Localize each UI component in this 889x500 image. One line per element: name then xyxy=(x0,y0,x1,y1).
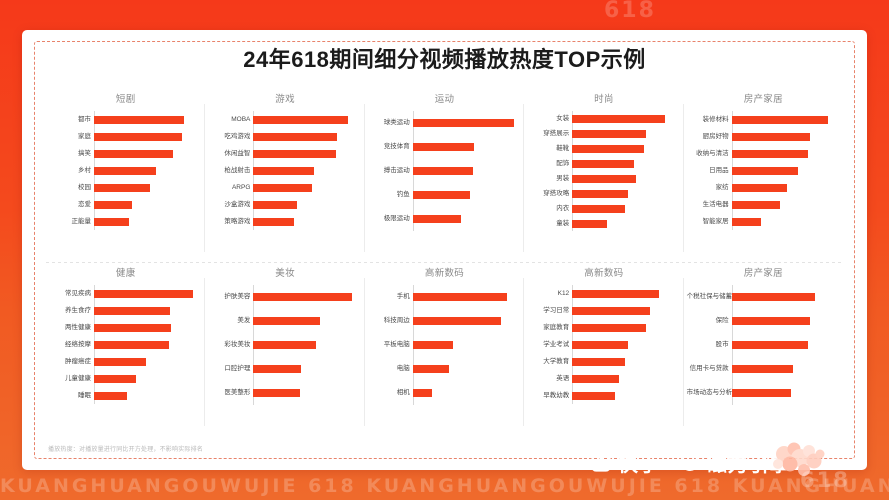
chart-title: 运动 xyxy=(369,94,520,106)
chart-bar xyxy=(732,167,799,175)
chart-title: 房产家居 xyxy=(688,94,839,106)
chart-bar-row: 学习日常 xyxy=(572,302,679,319)
chart-bar-row: 睡眠 xyxy=(94,387,201,404)
chart-bar xyxy=(572,160,634,168)
chart-bar xyxy=(732,150,808,158)
chart-bar-label: 肿瘤癌症 xyxy=(49,358,91,366)
chart-bar-label: 竞技体育 xyxy=(368,143,410,151)
chart-bar-track xyxy=(94,319,201,337)
chart-bar-track xyxy=(253,145,360,163)
chart-bar-row: 股市 xyxy=(732,333,839,357)
chart-bar-row: 英语 xyxy=(572,370,679,387)
chart-bar xyxy=(413,119,514,127)
chart-bar-row: 吃鸡游戏 xyxy=(253,128,360,145)
chart-bar xyxy=(94,201,132,209)
chart-bar-row: ARPG xyxy=(253,179,360,196)
chart-plot-area: MOBA吃鸡游戏休闲益智枪战射击ARPG沙盒游戏策略游戏 xyxy=(209,111,360,230)
chart-bar-row: 电脑 xyxy=(413,357,520,381)
chart-panel: 高新数码手机科技周边平板电脑电脑相机 xyxy=(365,262,524,436)
chart-bar-row: 常见疾病 xyxy=(94,285,201,302)
chart-bar-label: 沙盒游戏 xyxy=(208,201,250,209)
chart-bar-track xyxy=(732,179,839,197)
chart-bar-label: 睡眠 xyxy=(49,392,91,400)
chart-bar-track xyxy=(253,213,360,231)
chart-bar-row: 平板电脑 xyxy=(413,333,520,357)
chart-bar-label: 养生食疗 xyxy=(49,307,91,315)
chart-bar-track xyxy=(413,186,520,204)
chart-bar-label: 智能家居 xyxy=(687,218,729,226)
chart-bar-label: 保险 xyxy=(687,317,729,325)
chart-bar-track xyxy=(572,302,679,320)
chart-bar xyxy=(572,358,625,366)
chart-bar-track xyxy=(572,319,679,337)
chart-bar-track xyxy=(413,336,520,354)
content-card: 24年618期间细分视频播放热度TOP示例 短剧都市家庭搞笑乡村校园恋爱正能量游… xyxy=(22,30,867,470)
chart-bar-row: 手机 xyxy=(413,285,520,309)
chart-bar-track xyxy=(413,138,520,156)
chart-title: 高新数码 xyxy=(369,268,520,280)
chart-bar-row: 休闲益智 xyxy=(253,145,360,162)
chart-bar-track xyxy=(572,353,679,371)
chart-bar-label: 收纳与清洁 xyxy=(687,150,729,158)
chart-bar-label: 乡村 xyxy=(49,167,91,175)
chart-bar-label: 儿童健康 xyxy=(49,375,91,383)
chart-bar-label: MOBA xyxy=(208,116,250,124)
chart-bar-track xyxy=(94,370,201,388)
chart-bar xyxy=(94,392,127,400)
chart-bar-row: 市场动态与分析 xyxy=(732,381,839,405)
chart-bar-row: 枪战射击 xyxy=(253,162,360,179)
chart-plot-area: K12学习日常家庭教育学业考试大学教育英语早教幼教 xyxy=(528,285,679,404)
chart-bar-label: 装修材料 xyxy=(687,116,729,124)
chart-bar-label: 鞋靴 xyxy=(527,145,569,153)
chart-bar xyxy=(94,167,156,175)
chart-bar-row: 肿瘤癌症 xyxy=(94,353,201,370)
chart-bar-label: 校园 xyxy=(49,184,91,192)
chart-panel: 运动球类运动竞技体育搏击运动钓鱼极限运动 xyxy=(365,88,524,262)
chart-bar-track xyxy=(94,111,201,129)
chart-plot-area: 手机科技周边平板电脑电脑相机 xyxy=(369,285,520,405)
chart-bar-row: 护肤美容 xyxy=(253,285,360,309)
chart-bar-label: 家纺 xyxy=(687,184,729,192)
chart-bar-label: 大学教育 xyxy=(527,358,569,366)
chart-bar xyxy=(94,324,171,332)
chart-bar-track xyxy=(253,384,360,402)
chart-bar-row: 日用品 xyxy=(732,162,839,179)
chart-bar-row: 养生食疗 xyxy=(94,302,201,319)
chart-bar xyxy=(94,133,182,141)
chart-bar-track xyxy=(732,360,839,378)
chart-bar-label: 信用卡与贷款 xyxy=(687,365,729,373)
chart-bar-track xyxy=(94,387,201,405)
chart-bar-row: 科技周边 xyxy=(413,309,520,333)
chart-bar-label: 早教幼教 xyxy=(527,392,569,400)
chart-bar xyxy=(732,218,761,226)
chart-bar-label: 股市 xyxy=(687,341,729,349)
chart-bar xyxy=(94,375,136,383)
chart-bar-label: 正能量 xyxy=(49,218,91,226)
chart-plot-area: 球类运动竞技体育搏击运动钓鱼极限运动 xyxy=(369,111,520,231)
chart-bar-row: 极限运动 xyxy=(413,207,520,231)
chart-bar-label: 学业考试 xyxy=(527,341,569,349)
chart-bar xyxy=(94,341,169,349)
chart-panel: 房产家居个税社保与储蓄保险股市信用卡与贷款市场动态与分析 xyxy=(684,262,843,436)
chart-bar xyxy=(572,307,649,315)
chart-bar-row: 搞笑 xyxy=(94,145,201,162)
chart-bar-track xyxy=(732,288,839,306)
chart-bar xyxy=(572,115,664,123)
chart-bar xyxy=(94,150,173,158)
chart-bar xyxy=(413,389,432,397)
chart-bar-row: 都市 xyxy=(94,111,201,128)
chart-bar-row: 沙盒游戏 xyxy=(253,196,360,213)
chart-bar-track xyxy=(253,288,360,306)
chart-bar-track xyxy=(94,353,201,371)
chart-bar-row: 美发 xyxy=(253,309,360,333)
chart-bar-track xyxy=(94,162,201,180)
chart-bar-track xyxy=(732,384,839,402)
chart-bar-label: 英语 xyxy=(527,375,569,383)
chart-bar xyxy=(572,145,644,153)
chart-bar xyxy=(253,341,315,349)
chart-bar-label: 枪战射击 xyxy=(208,167,250,175)
chart-title: 健康 xyxy=(50,268,201,280)
chart-bar-row: 恋爱 xyxy=(94,196,201,213)
chart-bar-row: 个税社保与储蓄 xyxy=(732,285,839,309)
chart-bar xyxy=(253,365,300,373)
chart-bar-label: 穿搭展示 xyxy=(527,130,569,138)
chart-bar-track xyxy=(413,384,520,402)
chart-bar-label: 市场动态与分析 xyxy=(687,389,729,397)
chart-bar xyxy=(253,116,348,124)
chart-plot-area: 个税社保与储蓄保险股市信用卡与贷款市场动态与分析 xyxy=(688,285,839,405)
chart-bar-track xyxy=(572,370,679,388)
chart-bar-label: 球类运动 xyxy=(368,119,410,127)
chart-bar-track xyxy=(94,145,201,163)
chart-bar-row: 相机 xyxy=(413,381,520,405)
chart-bar-row: MOBA xyxy=(253,111,360,128)
chart-bar-row: 生活电器 xyxy=(732,196,839,213)
chart-bar xyxy=(253,150,336,158)
chart-bar-label: 内衣 xyxy=(527,205,569,213)
chart-bar-row: 策略游戏 xyxy=(253,213,360,230)
chart-bar xyxy=(572,190,628,198)
chart-bar-track xyxy=(413,312,520,330)
chart-bar-row: 经络按摩 xyxy=(94,336,201,353)
chart-bar-track xyxy=(732,145,839,163)
chart-bar xyxy=(572,175,635,183)
chart-bar xyxy=(94,184,150,192)
chart-bar-label: K12 xyxy=(527,290,569,298)
chart-panel: 美妆护肤美容美发彩妆美妆口腔护理医美整形 xyxy=(205,262,364,436)
chart-bar-label: 穿搭攻略 xyxy=(527,190,569,198)
chart-title: 高新数码 xyxy=(528,268,679,280)
chart-bar xyxy=(732,116,829,124)
chart-bar-track xyxy=(253,312,360,330)
chart-bar-label: ARPG xyxy=(208,184,250,192)
chart-panel: 高新数码K12学习日常家庭教育学业考试大学教育英语早教幼教 xyxy=(524,262,683,436)
chart-bar-row: 装修材料 xyxy=(732,111,839,128)
chart-bar-row: 家庭教育 xyxy=(572,319,679,336)
chart-plot-area: 常见疾病养生食疗两性健康经络按摩肿瘤癌症儿童健康睡眠 xyxy=(50,285,201,404)
chart-bar-row: 口腔护理 xyxy=(253,357,360,381)
row-divider xyxy=(46,262,843,263)
page-title: 24年618期间细分视频播放热度TOP示例 xyxy=(22,42,867,74)
chart-title: 时尚 xyxy=(528,94,679,106)
chart-title: 游戏 xyxy=(209,94,360,106)
chart-bar-track xyxy=(94,285,201,303)
chart-plot-area: 装修材料厨房好物收纳与清洁日用品家纺生活电器智能家居 xyxy=(688,111,839,230)
chart-bar xyxy=(572,375,619,383)
chart-bar xyxy=(94,358,146,366)
chart-bar-row: 竞技体育 xyxy=(413,135,520,159)
chart-bar xyxy=(572,130,646,138)
chart-bar xyxy=(732,317,810,325)
chart-bar xyxy=(732,184,788,192)
chart-bar-track xyxy=(732,213,839,231)
chart-bar-track xyxy=(253,360,360,378)
chart-bar xyxy=(253,167,313,175)
chart-bar xyxy=(413,143,474,151)
chart-bar xyxy=(732,293,816,301)
chart-bar-track xyxy=(94,179,201,197)
chart-bar xyxy=(413,215,461,223)
chart-bar xyxy=(572,205,625,213)
chart-bar xyxy=(413,365,450,373)
chart-bar-label: 常见疾病 xyxy=(49,290,91,298)
chart-bar-row: K12 xyxy=(572,285,679,302)
chart-panel: 时尚女装穿搭展示鞋靴配饰男装穿搭攻略内衣童装 xyxy=(524,88,683,262)
chart-bar-track xyxy=(413,210,520,228)
chart-bar-track xyxy=(94,213,201,231)
chart-bar-track xyxy=(253,128,360,146)
chart-bar xyxy=(572,341,628,349)
bottom-watermark-strip: KUANGHUANGOUWUJIE 618 KUANGHUANGOUWUJIE … xyxy=(0,472,889,500)
chart-bar xyxy=(253,133,337,141)
chart-bar-track xyxy=(413,162,520,180)
chart-title: 房产家居 xyxy=(688,268,839,280)
chart-bar-track xyxy=(572,387,679,405)
chart-bar-track xyxy=(732,162,839,180)
chart-bar-label: 策略游戏 xyxy=(208,218,250,226)
chart-bar-track xyxy=(94,302,201,320)
chart-bar-row: 儿童健康 xyxy=(94,370,201,387)
chart-bar xyxy=(253,293,352,301)
chart-bar-row: 钓鱼 xyxy=(413,183,520,207)
chart-bar xyxy=(732,341,808,349)
chart-bar xyxy=(413,293,508,301)
chart-bar-row: 信用卡与贷款 xyxy=(732,357,839,381)
chart-bar-row: 正能量 xyxy=(94,213,201,230)
chart-bar-row: 厨房好物 xyxy=(732,128,839,145)
chart-bar-track xyxy=(413,114,520,132)
chart-bar-row: 保险 xyxy=(732,309,839,333)
chart-bar-label: 医美整形 xyxy=(208,389,250,397)
chart-bar-track xyxy=(572,215,679,233)
chart-bar-row: 医美整形 xyxy=(253,381,360,405)
chart-bar xyxy=(572,220,606,228)
chart-bar xyxy=(732,201,780,209)
chart-bar-label: 生活电器 xyxy=(687,201,729,209)
chart-bar-row: 收纳与清洁 xyxy=(732,145,839,162)
chart-bar-label: 口腔护理 xyxy=(208,365,250,373)
chart-bar xyxy=(94,116,184,124)
chart-bar-label: 休闲益智 xyxy=(208,150,250,158)
chart-panel: 游戏MOBA吃鸡游戏休闲益智枪战射击ARPG沙盒游戏策略游戏 xyxy=(205,88,364,262)
chart-bar-label: 手机 xyxy=(368,293,410,301)
chart-bar-track xyxy=(732,336,839,354)
chart-bar-label: 平板电脑 xyxy=(368,341,410,349)
chart-bar-label: 极限运动 xyxy=(368,215,410,223)
chart-bar-label: 彩妆美妆 xyxy=(208,341,250,349)
chart-bar-row: 校园 xyxy=(94,179,201,196)
chart-bar-label: 钓鱼 xyxy=(368,191,410,199)
chart-bar xyxy=(94,290,193,298)
chart-bar-track xyxy=(413,288,520,306)
chart-bar-label: 恋爱 xyxy=(49,201,91,209)
chart-bar xyxy=(413,317,501,325)
chart-bar xyxy=(572,324,646,332)
chart-bar-row: 学业考试 xyxy=(572,336,679,353)
chart-bar-row: 大学教育 xyxy=(572,353,679,370)
chart-bar-track xyxy=(253,162,360,180)
chart-bar-track xyxy=(732,111,839,129)
chart-bar-row: 家纺 xyxy=(732,179,839,196)
chart-bar xyxy=(253,201,297,209)
chart-bar xyxy=(732,133,810,141)
chart-plot-area: 都市家庭搞笑乡村校园恋爱正能量 xyxy=(50,111,201,230)
chart-bar xyxy=(413,341,453,349)
chart-bar-track xyxy=(572,285,679,303)
chart-bar-track xyxy=(94,196,201,214)
chart-bar-label: 日用品 xyxy=(687,167,729,175)
chart-bar-label: 家庭 xyxy=(49,133,91,141)
chart-bar-label: 搏击运动 xyxy=(368,167,410,175)
chart-bar-label: 电脑 xyxy=(368,365,410,373)
chart-bar xyxy=(413,167,473,175)
chart-bar-row: 球类运动 xyxy=(413,111,520,135)
chart-bar-track xyxy=(572,336,679,354)
chart-bar-row: 乡村 xyxy=(94,162,201,179)
brand-separator: · xyxy=(667,457,672,473)
chart-bar xyxy=(94,218,129,226)
chart-bar-label: 厨房好物 xyxy=(687,133,729,141)
chart-bar-track xyxy=(413,360,520,378)
chart-bar-label: 都市 xyxy=(49,116,91,124)
chart-bar-track xyxy=(253,336,360,354)
chart-bar-label: 个税社保与储蓄 xyxy=(687,293,729,301)
footnote-text: 播放热度：对播放量进行同比开方处理，不影响实际排名 xyxy=(48,444,203,453)
chart-bar-label: 护肤美容 xyxy=(208,293,250,301)
chart-panel: 房产家居装修材料厨房好物收纳与清洁日用品家纺生活电器智能家居 xyxy=(684,88,843,262)
chart-bar-row: 家庭 xyxy=(94,128,201,145)
chart-bar-row: 搏击运动 xyxy=(413,159,520,183)
chart-panel: 健康常见疾病养生食疗两性健康经络按摩肿瘤癌症儿童健康睡眠 xyxy=(46,262,205,436)
chart-bar-track xyxy=(253,111,360,129)
chart-bar xyxy=(253,184,312,192)
chart-bar-row: 智能家居 xyxy=(732,213,839,230)
chart-bar xyxy=(572,392,615,400)
chart-bar-track xyxy=(253,196,360,214)
chart-bar-track xyxy=(253,179,360,197)
chart-bar-track xyxy=(732,128,839,146)
chart-bar xyxy=(413,191,470,199)
chart-bar-row: 早教幼教 xyxy=(572,387,679,404)
chart-bar-row: 童装 xyxy=(572,216,679,231)
chart-bar-track xyxy=(94,128,201,146)
chart-plot-area: 护肤美容美发彩妆美妆口腔护理医美整形 xyxy=(209,285,360,405)
chart-bar xyxy=(253,389,299,397)
chart-bar-label: 美发 xyxy=(208,317,250,325)
chart-bar-label: 科技周边 xyxy=(368,317,410,325)
chart-bar xyxy=(253,218,294,226)
chart-panel: 短剧都市家庭搞笑乡村校园恋爱正能量 xyxy=(46,88,205,262)
chart-bar xyxy=(732,389,791,397)
chart-bar-label: 相机 xyxy=(368,389,410,397)
chart-bar-track xyxy=(94,336,201,354)
chart-bar-track xyxy=(732,312,839,330)
chart-bar xyxy=(94,307,170,315)
chart-plot-area: 女装穿搭展示鞋靴配饰男装穿搭攻略内衣童装 xyxy=(528,111,679,231)
chart-bar xyxy=(732,365,793,373)
chart-bar-label: 吃鸡游戏 xyxy=(208,133,250,141)
chart-bar-track xyxy=(732,196,839,214)
chart-bar-label: 女装 xyxy=(527,115,569,123)
chart-bar-label: 童装 xyxy=(527,220,569,228)
chart-bar-label: 两性健康 xyxy=(49,324,91,332)
chart-bar-label: 家庭教育 xyxy=(527,324,569,332)
chart-bar-row: 两性健康 xyxy=(94,319,201,336)
chart-bar-label: 搞笑 xyxy=(49,150,91,158)
chart-bar xyxy=(572,290,659,298)
chart-bar-label: 经络按摩 xyxy=(49,341,91,349)
chart-bar-row: 彩妆美妆 xyxy=(253,333,360,357)
chart-bar-label: 男装 xyxy=(527,175,569,183)
chart-title: 美妆 xyxy=(209,268,360,280)
chart-title: 短剧 xyxy=(50,94,201,106)
chart-bar-label: 配饰 xyxy=(527,160,569,168)
chart-bar xyxy=(253,317,320,325)
chart-bar-label: 学习日常 xyxy=(527,307,569,315)
top-618-watermark: 618 xyxy=(604,0,656,23)
